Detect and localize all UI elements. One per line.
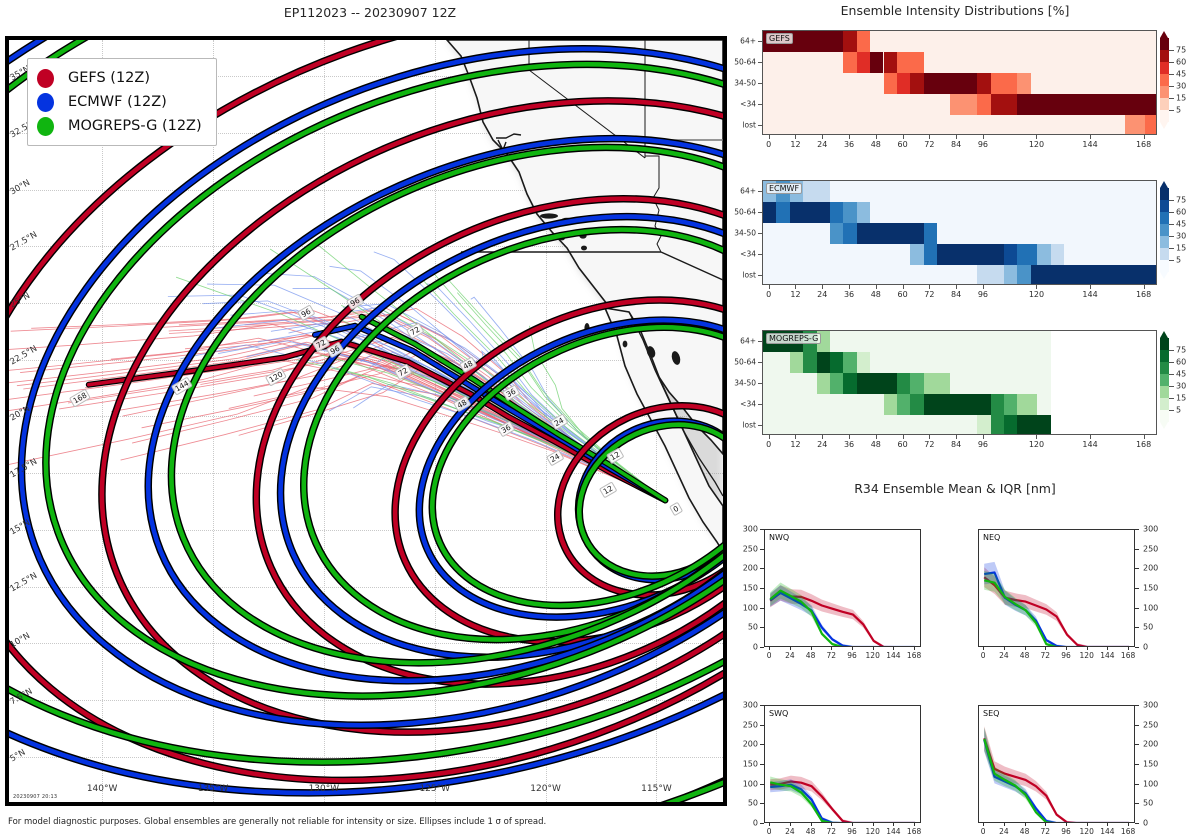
r34-x-tick-label: 72 xyxy=(827,651,837,660)
r34-y-tick xyxy=(1135,549,1139,550)
colorbar-tick-label: 45 xyxy=(1176,70,1186,79)
heatmap-x-tick xyxy=(1090,435,1091,439)
r34-plot-area[interactable]: SEQ xyxy=(978,705,1135,823)
heatmap-no-data-region xyxy=(1051,331,1157,435)
colorbar-tick xyxy=(1169,212,1174,213)
colorbar-segment xyxy=(1160,338,1169,350)
colorbar-tick-label: 75 xyxy=(1176,196,1186,205)
heatmap-y-tick-label: <34 xyxy=(724,399,756,408)
legend-item-label: ECMWF (12Z) xyxy=(68,94,167,110)
heatmap-x-tick xyxy=(1036,435,1037,439)
colorbar-segment xyxy=(1160,188,1169,200)
r34-y-tick xyxy=(1135,803,1139,804)
heatmap-cell xyxy=(843,223,856,244)
heatmap-cell xyxy=(884,73,897,94)
r34-x-tick xyxy=(1066,823,1067,826)
heatmap-x-tick-label: 24 xyxy=(817,440,827,449)
colorbar-tick xyxy=(1169,50,1174,51)
heatmap-plot-area[interactable]: MOGREPS-G xyxy=(762,330,1157,435)
colorbar-tick-label: 15 xyxy=(1176,94,1186,103)
legend-item-label: GEFS (12Z) xyxy=(68,70,150,86)
heatmap-x-tick xyxy=(903,435,904,439)
r34-x-tick xyxy=(769,647,770,650)
heatmap-x-tick xyxy=(903,285,904,289)
heatmap-cell xyxy=(1004,244,1017,265)
heatmap-y-tick-label: <34 xyxy=(724,99,756,108)
heatmap-cell xyxy=(924,373,951,394)
heatmap-x-tick-label: 120 xyxy=(1029,440,1044,449)
legend-item-gefs[interactable]: GEFS (12Z) xyxy=(37,66,202,90)
colorbar-segment xyxy=(1160,362,1169,374)
colorbar-tick-label: 45 xyxy=(1176,220,1186,229)
colorbar-tick-label: 60 xyxy=(1176,358,1186,367)
heatmap-cell xyxy=(1004,265,1017,285)
heatmap-x-tick-label: 36 xyxy=(844,290,854,299)
heatmap-x-tick xyxy=(769,135,770,139)
r34-y-tick xyxy=(1135,568,1139,569)
r34-y-tick-label: 200 xyxy=(732,740,758,749)
r34-y-tick xyxy=(760,647,764,648)
r34-y-tick-label: 200 xyxy=(1143,564,1158,573)
track-map[interactable]: 01224364872961201441681224364872969672 3… xyxy=(5,36,727,806)
r34-x-tick xyxy=(790,823,791,826)
heatmap-cell xyxy=(803,181,830,202)
heatmap-model-tag: ECMWF xyxy=(766,183,802,194)
legend-item-ecmwf[interactable]: ECMWF (12Z) xyxy=(37,90,202,114)
r34-x-tick-label: 0 xyxy=(981,651,986,660)
heatmap-cell xyxy=(977,415,990,435)
heatmap-cell xyxy=(1017,244,1037,265)
heatmap-cell xyxy=(857,223,924,244)
r34-x-tick-label: 144 xyxy=(1100,827,1114,836)
r34-plot-area[interactable]: NWQ xyxy=(764,529,921,647)
heatmap-x-tick xyxy=(929,285,930,289)
r34-y-tick-label: 150 xyxy=(1143,760,1158,769)
colorbar-segment xyxy=(1160,350,1169,362)
longitude-tick-label: 115°W xyxy=(641,784,672,794)
colorbar-segment xyxy=(1160,62,1169,74)
heatmap-x-tick-label: 12 xyxy=(790,440,800,449)
heatmap-y-tick-label: 50-64 xyxy=(724,57,756,66)
heatmap-x-tick-label: 72 xyxy=(924,440,934,449)
colorbar-tick xyxy=(1169,236,1174,237)
r34-x-tick xyxy=(893,823,894,826)
generation-timestamp: 20230907 20:13 xyxy=(13,794,57,800)
colorbar-tick-label: 75 xyxy=(1176,346,1186,355)
r34-y-tick-label: 150 xyxy=(1143,584,1158,593)
r34-y-tick-label: 0 xyxy=(1143,819,1148,828)
r34-y-tick xyxy=(1135,764,1139,765)
r34-x-tick-label: 48 xyxy=(806,651,816,660)
heatmap-plot-area[interactable]: GEFS xyxy=(762,30,1157,135)
r34-x-tick xyxy=(983,647,984,650)
r34-y-tick xyxy=(1135,647,1139,648)
heatmap-cell xyxy=(884,52,897,73)
colorbar-segment xyxy=(1160,86,1169,98)
r34-x-tick xyxy=(1107,647,1108,650)
r34-plot-area[interactable]: SWQ xyxy=(764,705,921,823)
heatmap-cell xyxy=(991,73,1018,94)
r34-x-tick-label: 24 xyxy=(785,827,795,836)
r34-y-tick-label: 150 xyxy=(732,760,758,769)
heatmap-cell xyxy=(991,415,1004,435)
colorbar-tick-label: 30 xyxy=(1176,382,1186,391)
heatmap-x-tick xyxy=(1090,285,1091,289)
r34-y-tick xyxy=(1135,588,1139,589)
longitude-tick-label: 120°W xyxy=(530,784,561,794)
heatmap-x-tick xyxy=(983,285,984,289)
colorbar-tick-label: 30 xyxy=(1176,82,1186,91)
heatmap-x-tick-label: 24 xyxy=(817,140,827,149)
colorbar-segment xyxy=(1160,74,1169,86)
footnote: For model diagnostic purposes. Global en… xyxy=(8,817,546,827)
r34-x-tick-label: 24 xyxy=(999,651,1009,660)
heatmap-cell xyxy=(843,373,856,394)
r34-y-tick-label: 0 xyxy=(732,643,758,652)
heatmap-cell xyxy=(910,73,923,94)
heatmap-cell xyxy=(843,52,856,73)
r34-x-tick xyxy=(1004,823,1005,826)
r34-x-tick xyxy=(1025,823,1026,826)
colorbar-segment xyxy=(1160,386,1169,398)
heatmap-cell xyxy=(1037,244,1050,265)
r34-x-tick-label: 96 xyxy=(847,651,857,660)
colorbar-tick-label: 60 xyxy=(1176,208,1186,217)
heatmap-cell xyxy=(857,52,870,73)
colorbar-min-arrow-icon xyxy=(1160,272,1168,279)
heatmap-x-tick xyxy=(983,135,984,139)
heatmap-y-tick-label: 50-64 xyxy=(724,357,756,366)
heatmap-cell xyxy=(1017,94,1138,115)
heatmap-cell xyxy=(857,373,897,394)
heatmap-x-tick-label: 12 xyxy=(790,140,800,149)
heatmap-x-tick xyxy=(849,285,850,289)
heatmap-y-tick-label: 34-50 xyxy=(724,228,756,237)
heatmaps-title: Ensemble Intensity Distributions [%] xyxy=(745,3,1165,18)
longitude-tick-label: 140°W xyxy=(87,784,118,794)
r34-y-tick xyxy=(1135,529,1139,530)
r34-x-tick-label: 144 xyxy=(1100,651,1114,660)
legend-item-mogreps-g[interactable]: MOGREPS-G (12Z) xyxy=(37,114,202,138)
heatmap-x-tick xyxy=(795,285,796,289)
r34-x-tick-label: 168 xyxy=(1121,651,1135,660)
heatmap-x-tick-label: 168 xyxy=(1136,140,1151,149)
r34-y-tick-label: 300 xyxy=(1143,701,1158,710)
heatmap-x-tick xyxy=(1036,135,1037,139)
colorbar-tick xyxy=(1169,248,1174,249)
r34-x-tick xyxy=(1045,647,1046,650)
colorbar-tick xyxy=(1169,110,1174,111)
longitude-tick-label: 135°W xyxy=(198,784,229,794)
r34-y-tick xyxy=(760,823,764,824)
r34-title: R34 Ensemble Mean & IQR [nm] xyxy=(745,481,1165,496)
r34-x-tick-label: 72 xyxy=(1041,827,1051,836)
heatmap-x-tick-label: 0 xyxy=(766,140,771,149)
r34-x-tick-label: 168 xyxy=(1121,827,1135,836)
heatmap-x-tick-label: 0 xyxy=(766,440,771,449)
r34-y-tick-label: 300 xyxy=(1143,525,1158,534)
ensemble-tracks-layer xyxy=(9,40,723,802)
colorbar-segment xyxy=(1160,212,1169,224)
r34-x-tick-label: 0 xyxy=(767,827,772,836)
r34-y-tick-label: 0 xyxy=(732,819,758,828)
r34-x-tick-label: 96 xyxy=(847,827,857,836)
heatmap-cell xyxy=(897,73,910,94)
r34-x-tick xyxy=(1087,823,1088,826)
colorbar-tick xyxy=(1169,374,1174,375)
heatmap-y-tick-label: 64+ xyxy=(724,36,756,45)
colorbar-max-arrow-icon xyxy=(1160,31,1168,38)
heatmap-x-tick xyxy=(822,135,823,139)
r34-quadrant-tag: NWQ xyxy=(769,533,789,542)
r34-y-tick-label: 100 xyxy=(1143,603,1158,612)
r34-y-tick-label: 100 xyxy=(1143,779,1158,788)
r34-x-tick-label: 48 xyxy=(806,827,816,836)
colorbar-tick xyxy=(1169,362,1174,363)
r34-x-tick xyxy=(1128,823,1129,826)
heatmap-x-tick xyxy=(876,435,877,439)
colorbar-tick-label: 30 xyxy=(1176,232,1186,241)
colorbar-tick-label: 45 xyxy=(1176,370,1186,379)
heatmap-cell xyxy=(1125,115,1145,135)
heatmap-cell xyxy=(991,394,1004,415)
model-legend: GEFS (12Z)ECMWF (12Z)MOGREPS-G (12Z) xyxy=(27,58,217,146)
r34-y-tick xyxy=(1135,627,1139,628)
colorbar-segment xyxy=(1160,236,1169,248)
r34-plot-area[interactable]: NEQ xyxy=(978,529,1135,647)
colorbar-segment xyxy=(1160,224,1169,236)
r34-y-tick-label: 100 xyxy=(732,603,758,612)
colorbar-tick-label: 75 xyxy=(1176,46,1186,55)
r34-y-tick-label: 250 xyxy=(1143,544,1158,553)
heatmap-x-tick-label: 144 xyxy=(1082,440,1097,449)
heatmap-cell xyxy=(803,352,816,373)
heatmap-x-tick-label: 96 xyxy=(978,140,988,149)
heatmap-cell xyxy=(830,202,843,223)
heatmap-cell xyxy=(857,352,870,373)
r34-y-tick-label: 200 xyxy=(1143,740,1158,749)
r34-y-tick-label: 50 xyxy=(732,623,758,632)
heatmap-x-tick xyxy=(1144,135,1145,139)
heatmap-cell xyxy=(910,373,923,394)
heatmap-x-tick xyxy=(1144,285,1145,289)
heatmap-cell xyxy=(830,352,843,373)
r34-y-tick xyxy=(1135,608,1139,609)
r34-x-tick-label: 168 xyxy=(907,827,921,836)
r34-x-tick xyxy=(852,823,853,826)
colorbar-tick xyxy=(1169,98,1174,99)
heatmap-x-tick-label: 120 xyxy=(1029,290,1044,299)
r34-x-tick-label: 24 xyxy=(785,651,795,660)
r34-x-tick-label: 144 xyxy=(886,827,900,836)
r34-y-tick-label: 50 xyxy=(1143,623,1153,632)
r34-x-tick-label: 0 xyxy=(767,651,772,660)
heatmap-x-tick-label: 84 xyxy=(951,140,961,149)
heatmap-y-tick-label: 64+ xyxy=(724,336,756,345)
colorbar-tick xyxy=(1169,86,1174,87)
heatmap-cell xyxy=(937,244,1004,265)
heatmap-cell xyxy=(950,94,977,115)
heatmap-x-tick xyxy=(1036,285,1037,289)
r34-x-tick-label: 120 xyxy=(866,651,880,660)
heatmap-y-tick-label: lost xyxy=(724,270,756,279)
heatmap-model-tag: GEFS xyxy=(766,33,793,44)
r34-x-tick xyxy=(769,823,770,826)
heatmap-cell xyxy=(897,394,910,415)
r34-x-tick xyxy=(1107,823,1108,826)
r34-x-tick xyxy=(1045,823,1046,826)
heatmap-cell xyxy=(977,265,1004,285)
r34-x-tick xyxy=(893,647,894,650)
colorbar-tick xyxy=(1169,62,1174,63)
heatmap-x-tick xyxy=(983,435,984,439)
heatmap-x-tick-label: 12 xyxy=(790,290,800,299)
r34-quadrant-tag: SWQ xyxy=(769,709,788,718)
longitude-tick-label: 125°W xyxy=(419,784,450,794)
colorbar-segment xyxy=(1160,374,1169,386)
r34-y-tick-label: 250 xyxy=(732,544,758,553)
heatmap-cell xyxy=(897,373,910,394)
colorbar-tick-label: 5 xyxy=(1176,106,1181,115)
heatmap-cell xyxy=(1051,244,1064,265)
heatmap-y-tick-label: 64+ xyxy=(724,186,756,195)
r34-x-tick xyxy=(790,647,791,650)
r34-y-tick-label: 300 xyxy=(732,525,758,534)
heatmap-x-tick xyxy=(769,285,770,289)
colorbar-segment xyxy=(1160,110,1169,122)
r34-x-tick-label: 120 xyxy=(1080,651,1094,660)
heatmap-x-tick-label: 48 xyxy=(871,140,881,149)
heatmap-x-tick xyxy=(929,135,930,139)
heatmap-x-tick-label: 144 xyxy=(1082,290,1097,299)
r34-x-tick xyxy=(873,823,874,826)
r34-x-tick-label: 48 xyxy=(1020,827,1030,836)
heatmap-x-tick-label: 84 xyxy=(951,440,961,449)
heatmap-cell xyxy=(1017,265,1030,285)
heatmap-x-tick xyxy=(849,135,850,139)
colorbar-segment xyxy=(1160,50,1169,62)
heatmap-cell xyxy=(763,202,776,223)
r34-y-tick xyxy=(1135,725,1139,726)
heatmap-x-tick-label: 84 xyxy=(951,290,961,299)
heatmap-x-tick-label: 24 xyxy=(817,290,827,299)
r34-x-tick xyxy=(811,823,812,826)
heatmap-x-tick xyxy=(956,135,957,139)
heatmap-x-tick-label: 0 xyxy=(766,290,771,299)
heatmap-cell xyxy=(1017,73,1030,94)
r34-x-tick xyxy=(1066,647,1067,650)
heatmap-x-tick xyxy=(929,435,930,439)
heatmap-cell xyxy=(977,73,990,94)
heatmap-x-tick xyxy=(956,435,957,439)
heatmap-x-tick-label: 72 xyxy=(924,290,934,299)
colorbar-tick xyxy=(1169,224,1174,225)
heatmap-cell xyxy=(1017,394,1037,415)
colorbar-tick xyxy=(1169,350,1174,351)
colorbar-min-arrow-icon xyxy=(1160,122,1168,129)
heatmap-y-tick-label: 34-50 xyxy=(724,378,756,387)
heatmap-cell xyxy=(790,352,803,373)
r34-x-tick-label: 24 xyxy=(999,827,1009,836)
heatmap-cell xyxy=(1004,394,1017,415)
r34-x-tick-label: 72 xyxy=(1041,651,1051,660)
r34-y-tick-label: 300 xyxy=(732,701,758,710)
heatmap-x-tick xyxy=(1090,135,1091,139)
r34-x-tick-label: 72 xyxy=(827,827,837,836)
heatmap-x-tick xyxy=(769,435,770,439)
heatmap-x-tick xyxy=(795,435,796,439)
colorbar-tick xyxy=(1169,74,1174,75)
r34-y-tick-label: 50 xyxy=(732,799,758,808)
colorbar-tick xyxy=(1169,200,1174,201)
heatmap-cell xyxy=(830,223,843,244)
heatmap-cell xyxy=(924,73,978,94)
colorbar-tick-label: 5 xyxy=(1176,406,1181,415)
heatmap-cell xyxy=(857,202,870,223)
heatmap-cell xyxy=(870,52,883,73)
colorbar-segment xyxy=(1160,398,1169,410)
heatmap-cell xyxy=(924,223,937,244)
heatmap-x-tick-label: 72 xyxy=(924,140,934,149)
heatmap-x-tick-label: 60 xyxy=(897,290,907,299)
r34-x-tick xyxy=(831,647,832,650)
heatmap-cell xyxy=(1031,265,1157,285)
heatmap-cell xyxy=(884,394,897,415)
heatmap-x-tick-label: 60 xyxy=(897,140,907,149)
r34-x-tick xyxy=(914,647,915,650)
colorbar-segment xyxy=(1160,410,1169,422)
r34-x-tick xyxy=(831,823,832,826)
heatmap-x-tick-label: 120 xyxy=(1029,140,1044,149)
heatmap-plot-area[interactable]: ECMWF xyxy=(762,180,1157,285)
r34-x-tick xyxy=(1087,647,1088,650)
r34-x-tick-label: 120 xyxy=(1080,827,1094,836)
r34-x-tick-label: 168 xyxy=(907,651,921,660)
r34-y-tick-label: 50 xyxy=(1143,799,1153,808)
heatmap-cell xyxy=(790,202,830,223)
heatmap-x-tick xyxy=(956,285,957,289)
colorbar-tick xyxy=(1169,398,1174,399)
colorbar-tick xyxy=(1169,386,1174,387)
r34-x-tick xyxy=(1025,647,1026,650)
heatmap-cell xyxy=(1138,94,1157,115)
r34-x-tick-label: 0 xyxy=(981,827,986,836)
heatmap-cell xyxy=(817,352,830,373)
colorbar-tick xyxy=(1169,260,1174,261)
heatmap-x-tick-label: 48 xyxy=(871,440,881,449)
heatmap-x-tick-label: 36 xyxy=(844,140,854,149)
heatmap-x-tick-label: 36 xyxy=(844,440,854,449)
r34-quadrant-tag: SEQ xyxy=(983,709,999,718)
heatmap-x-tick xyxy=(876,285,877,289)
r34-y-tick-label: 200 xyxy=(732,564,758,573)
heatmap-x-tick xyxy=(903,135,904,139)
heatmap-model-tag: MOGREPS-G xyxy=(766,333,821,344)
heatmap-cell xyxy=(843,202,856,223)
r34-x-tick xyxy=(873,647,874,650)
colorbar-tick-label: 15 xyxy=(1176,244,1186,253)
r34-x-tick-label: 96 xyxy=(1061,827,1071,836)
heatmap-y-tick-label: 50-64 xyxy=(724,207,756,216)
legend-color-dot-icon xyxy=(37,93,54,112)
r34-y-tick xyxy=(1135,784,1139,785)
heatmap-y-tick-label: <34 xyxy=(724,249,756,258)
colorbar-segment xyxy=(1160,98,1169,110)
heatmap-x-tick xyxy=(849,435,850,439)
r34-x-tick xyxy=(852,647,853,650)
r34-x-tick xyxy=(1128,647,1129,650)
r34-y-tick-label: 250 xyxy=(732,720,758,729)
